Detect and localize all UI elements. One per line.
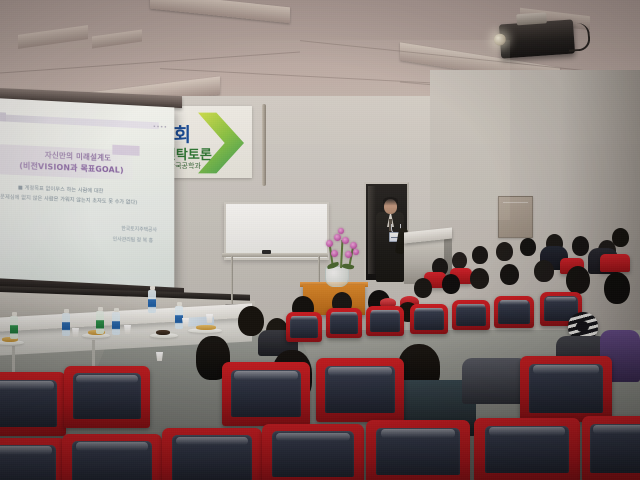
seat-highlight <box>276 433 349 442</box>
seat <box>410 304 448 334</box>
attendee-head <box>612 228 629 247</box>
whiteboard-marker <box>262 250 271 254</box>
seat-highlight <box>381 429 456 438</box>
attendee-long-hair <box>238 306 264 336</box>
bottle-cap <box>114 308 119 312</box>
water-bottle <box>96 311 104 334</box>
water-bottle <box>112 312 120 335</box>
paper-cup <box>206 314 213 323</box>
orchid-flower <box>326 240 333 247</box>
seat <box>520 356 612 422</box>
seat-highlight <box>0 446 52 454</box>
attendee-long-hair <box>604 272 630 304</box>
seat <box>286 312 322 342</box>
projector-lens-icon <box>494 33 507 46</box>
seat-highlight <box>328 367 391 376</box>
ceiling-projector <box>499 19 575 58</box>
seat <box>366 306 404 336</box>
seat <box>222 362 310 426</box>
projector-mount <box>516 12 547 25</box>
banner-chevron-graphic <box>198 110 244 176</box>
table-leg <box>92 340 95 366</box>
seat-highlight <box>371 310 398 314</box>
seat-highlight <box>500 300 529 304</box>
seat-highlight <box>457 304 484 308</box>
projection-screen: ▪ ▪ ▪ ▪ 자신만의 미래설계도 (비전VISION과 목표GOAL) ■ … <box>0 98 174 290</box>
attendee-body <box>462 358 528 404</box>
whiteboard-tray <box>222 253 328 257</box>
seat-highlight <box>593 425 640 434</box>
seat <box>262 424 364 480</box>
orchid-flower <box>338 228 344 234</box>
lecture-hall-photo: 수회 가전탁토론 국 한국공학과 ▪ ▪ ▪ ▪ 자신만의 미래설계도 (비전V… <box>0 0 640 480</box>
attendee-head <box>534 260 554 282</box>
bottle-cap <box>150 286 155 290</box>
attendee-long-hair <box>566 266 590 294</box>
presenter-head <box>384 199 397 214</box>
water-bottle <box>62 313 70 336</box>
seat <box>366 420 470 480</box>
bottle-cap <box>98 307 103 311</box>
slide-header-bar <box>2 114 159 129</box>
seat <box>494 296 534 328</box>
whiteboard-leg <box>231 256 233 306</box>
attendee-head <box>520 238 536 256</box>
attendee-head <box>414 278 432 298</box>
doorway-light <box>368 186 376 274</box>
paper-cup <box>72 328 79 337</box>
seat-highlight <box>234 371 297 380</box>
water-bottle <box>148 290 156 313</box>
water-bottle <box>10 316 18 339</box>
seat <box>162 428 262 480</box>
seat-highlight <box>489 427 565 436</box>
bottle-cap <box>64 309 69 313</box>
seat-highlight <box>291 316 317 320</box>
paper-cup <box>124 325 131 334</box>
ceiling-seam <box>0 52 300 74</box>
food-items <box>156 330 170 335</box>
seat <box>0 438 66 480</box>
whiteboard <box>224 202 329 260</box>
seat-highlight <box>546 297 576 302</box>
paper-cup <box>156 352 163 361</box>
seat-highlight <box>176 437 248 446</box>
orchid-flower <box>342 237 349 244</box>
attendee-head <box>452 252 467 269</box>
attendee-head <box>572 236 589 256</box>
seat <box>64 366 150 428</box>
seat <box>582 416 640 480</box>
slide-corner-note: ▪ ▪ ▪ ▪ <box>153 124 166 129</box>
wall-notice-panel <box>498 196 533 238</box>
slide-signature-line2: 인사관리팀 정 복 홍 <box>113 236 153 244</box>
bottle-cap <box>177 302 182 306</box>
seat <box>62 434 162 480</box>
seat <box>600 254 630 272</box>
seat <box>0 372 66 436</box>
attendee-head <box>442 274 460 294</box>
seat-highlight <box>76 375 138 384</box>
seat <box>452 300 490 330</box>
ceiling-vent <box>18 25 88 49</box>
water-bottle <box>175 306 183 329</box>
paper-cup <box>182 318 189 327</box>
bottle-cap <box>12 312 17 316</box>
beanie-ear-flap <box>576 321 589 332</box>
seat <box>316 358 404 422</box>
seat <box>326 308 362 338</box>
slide-header-cap <box>0 112 6 122</box>
orchid-flower <box>350 242 357 249</box>
slide-signature-line1: 한국토지주택공사 <box>121 225 157 233</box>
orchid-flower <box>353 249 359 255</box>
seat-highlight <box>415 308 442 312</box>
attendee-head <box>500 264 519 285</box>
attendee-head <box>470 268 489 289</box>
attendee-head <box>496 242 513 261</box>
banner-hanging-rod <box>262 104 266 186</box>
seat-highlight <box>0 381 54 390</box>
orchid-flower <box>334 234 341 241</box>
seat-highlight <box>533 365 599 374</box>
seat-highlight <box>331 312 357 316</box>
ceiling-vent <box>92 29 142 48</box>
attendee-head <box>472 246 488 264</box>
food-items <box>196 325 216 330</box>
ceiling-light-fixture <box>150 0 290 23</box>
orchid-flower <box>345 251 352 258</box>
seat-highlight <box>76 442 148 450</box>
orchid-flower <box>331 250 338 257</box>
seat <box>474 418 580 480</box>
